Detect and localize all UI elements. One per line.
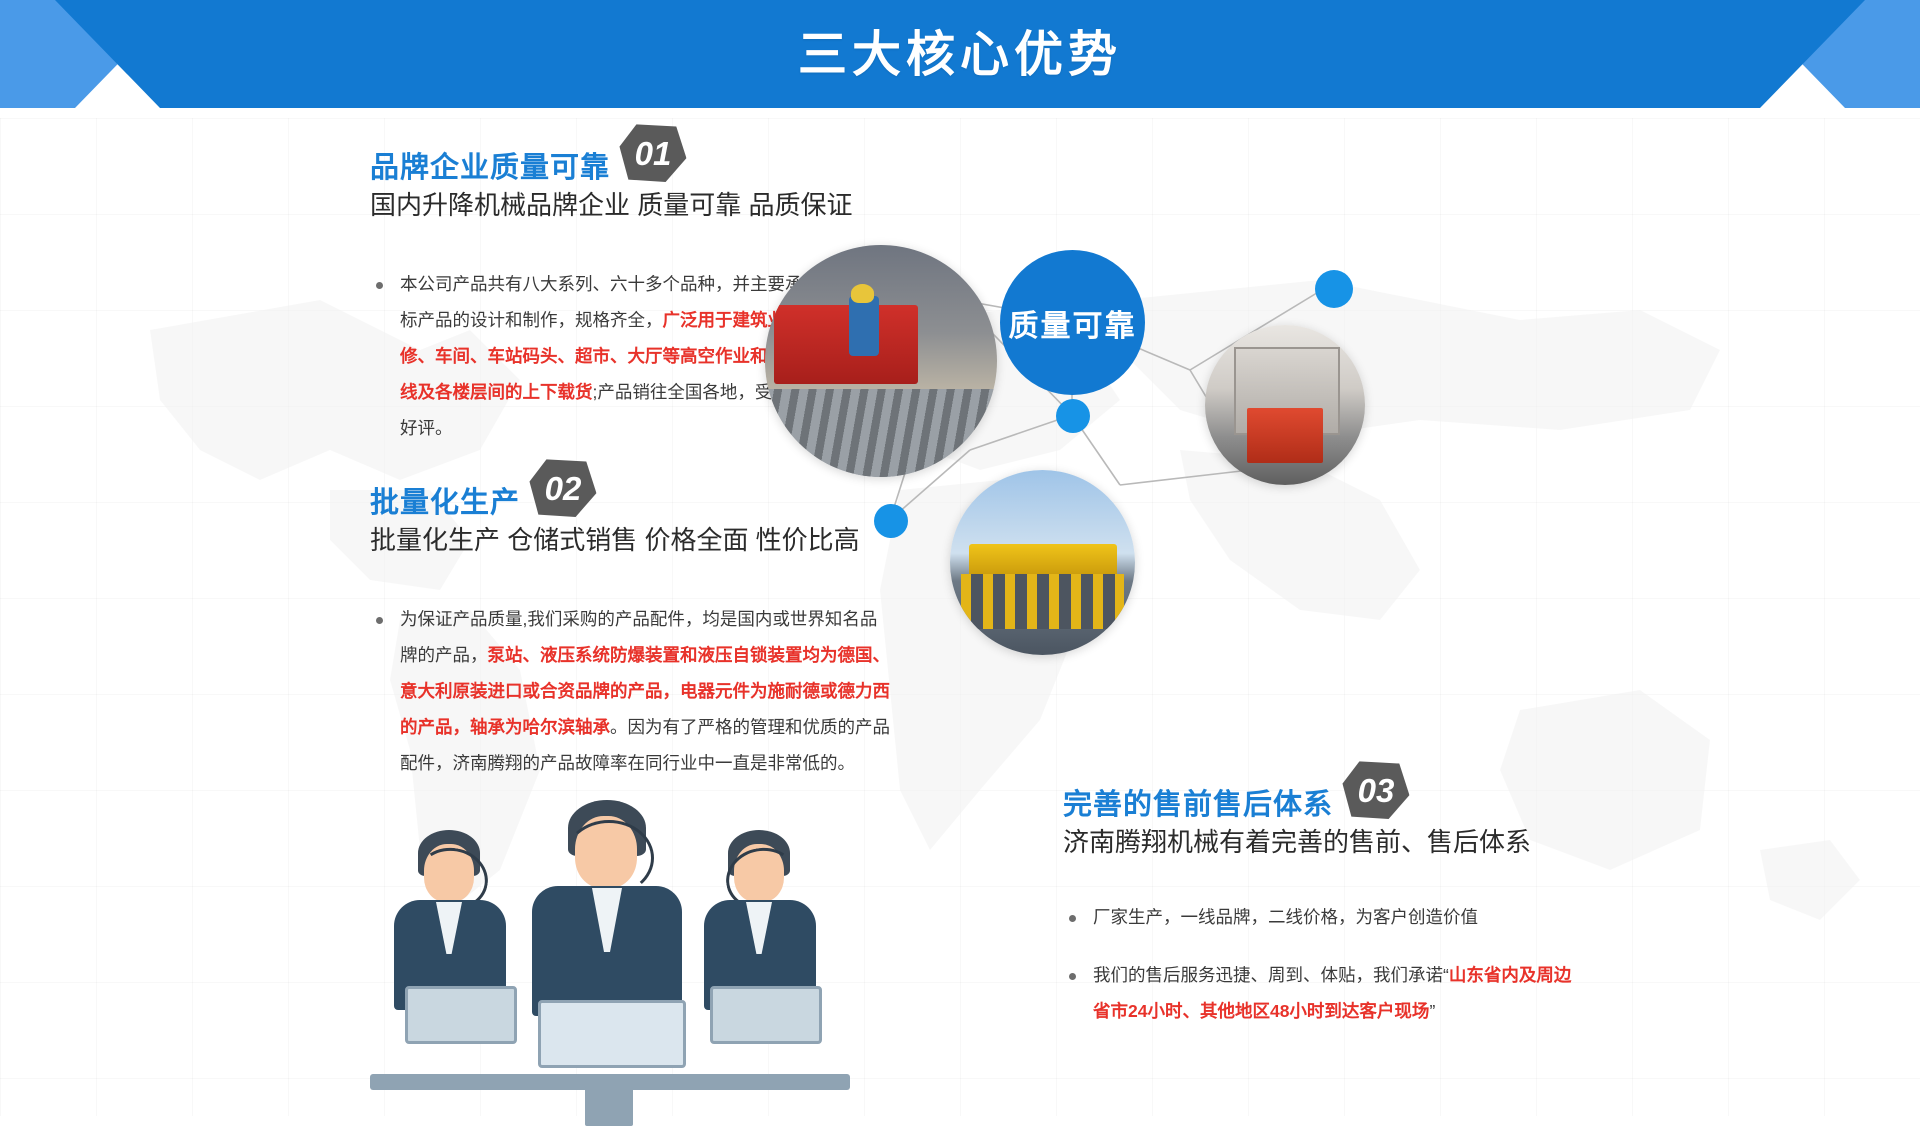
photo-factory-production bbox=[765, 245, 997, 477]
photo-lift-equipment-showroom bbox=[1205, 325, 1365, 485]
hexagon-badge-icon-02: 02 bbox=[530, 457, 596, 519]
feature-subtitle-03: 济南腾翔机械有着完善的售前、售后体系 bbox=[1063, 825, 1623, 860]
feature-subtitle-02: 批量化生产 仓储式销售 价格全面 性价比高 bbox=[370, 523, 900, 558]
hexagon-badge-icon-03: 03 bbox=[1343, 759, 1409, 821]
feature-title-02: 批量化生产 bbox=[370, 473, 520, 518]
hexagon-badge-icon-01: 01 bbox=[620, 122, 686, 184]
feature-number-01: 01 bbox=[620, 123, 686, 185]
feature-title-03: 完善的售前售后体系 bbox=[1063, 775, 1333, 820]
node-dot-1 bbox=[1315, 270, 1353, 308]
diagram-connector-lines bbox=[860, 140, 1920, 760]
feature-section-02: 批量化生产 02 批量化生产 仓储式销售 价格全面 性价比高 为保证产品质量,我… bbox=[370, 473, 900, 803]
quality-network-diagram: 质量可靠 bbox=[860, 140, 1920, 760]
list-item: 我们的售后服务迅捷、周到、体贴，我们承诺“山东省内及周边省市24小时、其他地区4… bbox=[1063, 958, 1583, 1030]
laptop-left bbox=[405, 986, 517, 1044]
feature-section-03: 完善的售前售后体系 03 济南腾翔机械有着完善的售前、售后体系 厂家生产，一线品… bbox=[1063, 775, 1623, 1052]
page-title: 三大核心优势 bbox=[0, 0, 1920, 100]
list-item: 厂家生产，一线品牌，二线价格，为客户创造价值 bbox=[1063, 900, 1583, 936]
feature-bullets-02: 为保证产品质量,我们采购的产品配件，均是国内或世界知名品牌的产品，泵站、液压系统… bbox=[370, 602, 890, 781]
node-dot-3 bbox=[874, 504, 908, 538]
body-text: 我们的售后服务迅捷、周到、体贴，我们承诺“ bbox=[1093, 965, 1449, 985]
photo-aerial-work-platform bbox=[950, 470, 1135, 655]
feature-heading-row-02: 批量化生产 02 bbox=[370, 473, 900, 519]
body-text: ” bbox=[1429, 1001, 1435, 1021]
body-text: 厂家生产，一线品牌，二线价格，为客户创造价值 bbox=[1093, 907, 1478, 927]
laptop-right bbox=[710, 986, 822, 1044]
feature-bullets-03: 厂家生产，一线品牌，二线价格，为客户创造价值 我们的售后服务迅捷、周到、体贴，我… bbox=[1063, 900, 1583, 1030]
laptop-center bbox=[538, 1000, 686, 1068]
list-item: 为保证产品质量,我们采购的产品配件，均是国内或世界知名品牌的产品，泵站、液压系统… bbox=[370, 602, 890, 781]
page-header-banner: 三大核心优势 bbox=[0, 0, 1920, 118]
feature-heading-row-01: 品牌企业质量可靠 01 bbox=[370, 138, 900, 184]
feature-number-03: 03 bbox=[1343, 760, 1409, 822]
feature-number-02: 02 bbox=[530, 458, 596, 520]
support-team-illustration bbox=[370, 790, 850, 1090]
center-bubble-label: 质量可靠 bbox=[1009, 301, 1137, 345]
feature-heading-row-03: 完善的售前售后体系 03 bbox=[1063, 775, 1623, 821]
center-bubble-quality: 质量可靠 bbox=[1000, 250, 1145, 395]
feature-subtitle-01: 国内升降机械品牌企业 质量可靠 品质保证 bbox=[370, 188, 900, 223]
feature-title-01: 品牌企业质量可靠 bbox=[370, 138, 610, 183]
node-dot-2 bbox=[1056, 399, 1090, 433]
desk-stand bbox=[585, 1086, 633, 1126]
